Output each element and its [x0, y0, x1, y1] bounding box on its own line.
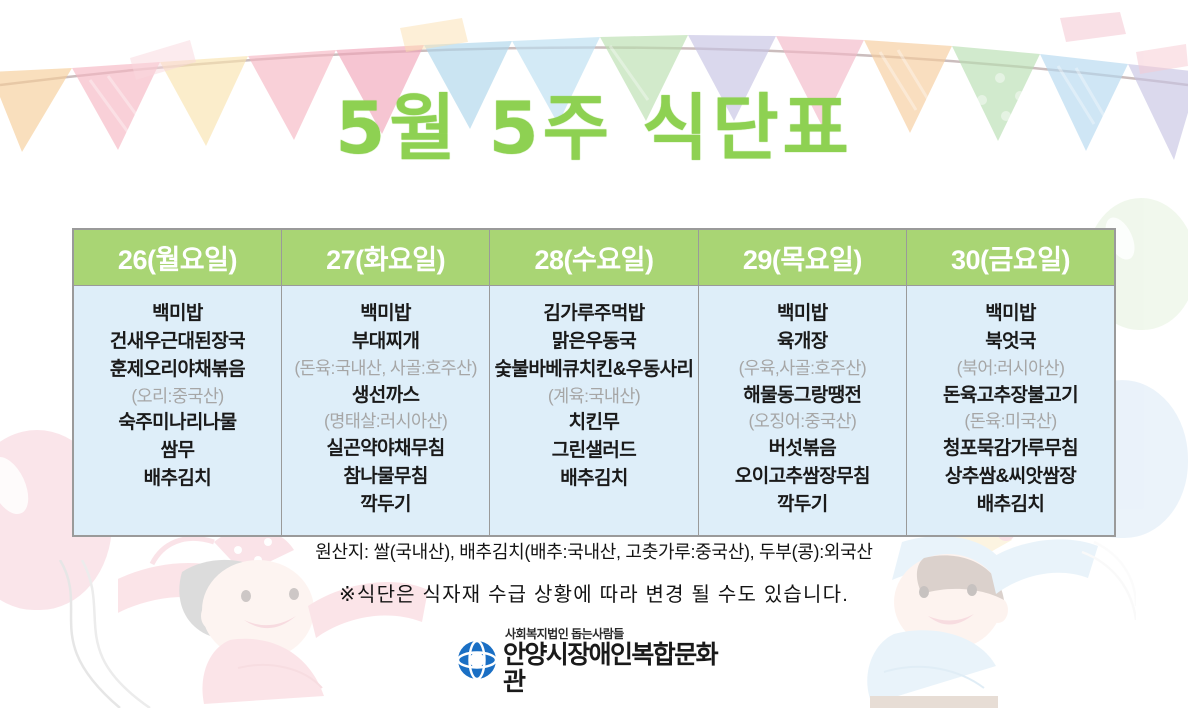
menu-item: 버섯볶음	[703, 435, 902, 463]
column-header-wednesday: 28(수요일)	[490, 229, 698, 286]
menu-item: 깍두기	[703, 491, 902, 519]
menu-item: 부대찌개	[286, 328, 485, 356]
globe-icon	[457, 640, 497, 680]
table-header-row: 26(월요일) 27(화요일) 28(수요일) 29(목요일) 30(금요일)	[73, 229, 1115, 286]
logo-name: 안양시장애인복합문화관	[503, 642, 735, 695]
logo-subtitle: 사회복지법인 돕는사람들	[505, 625, 735, 642]
logo-text-block: 사회복지법인 돕는사람들 안양시장애인복합문화관	[503, 625, 735, 695]
column-header-tuesday: 27(화요일)	[281, 229, 489, 286]
menu-item: 북엇국	[911, 328, 1110, 356]
menu-item: 상추쌈&씨앗쌈장	[911, 463, 1110, 491]
menu-item: 오이고추쌈장무침	[703, 463, 902, 491]
menu-item: 참나물무침	[286, 463, 485, 491]
origin-label: (우육,사골:호주산)	[703, 356, 902, 382]
menu-item: 해물동그랑땡전	[703, 382, 902, 410]
origin-label: (돈육:미국산)	[911, 409, 1110, 435]
change-note: ※식단은 식자재 수급 상황에 따라 변경 될 수도 있습니다.	[0, 578, 1188, 607]
origin-label: (돈육:국내산, 사골:호주산)	[286, 356, 485, 382]
menu-item: 맑은우동국	[494, 328, 693, 356]
column-header-friday: 30(금요일)	[907, 229, 1115, 286]
menu-item: 건새우근대된장국	[78, 328, 277, 356]
menu-cell-wednesday: 김가루주먹밥맑은우동국숯불바베큐치킨&우동사리(계육:국내산)치킨무그린샐러드배…	[490, 286, 698, 536]
footer-notes: 원산지: 쌀(국내산), 배추김치(배추:국내산, 고춧가루:중국산), 두부(…	[0, 538, 1188, 607]
menu-cell-monday: 백미밥건새우근대된장국훈제오리야채볶음(오리:중국산)숙주미나리나물쌈무배추김치	[73, 286, 281, 536]
menu-item: 배추김치	[78, 465, 277, 493]
menu-item: 쌈무	[78, 437, 277, 465]
menu-item: 실곤약야채무침	[286, 435, 485, 463]
table-menu-row: 백미밥건새우근대된장국훈제오리야채볶음(오리:중국산)숙주미나리나물쌈무배추김치…	[73, 286, 1115, 536]
menu-item: 육개장	[703, 328, 902, 356]
column-header-thursday: 29(목요일)	[698, 229, 906, 286]
menu-item: 숯불바베큐치킨&우동사리	[494, 356, 693, 384]
weekly-menu-table: 26(월요일) 27(화요일) 28(수요일) 29(목요일) 30(금요일) …	[72, 228, 1116, 537]
menu-item: 청포묵감가루무침	[911, 435, 1110, 463]
menu-item: 배추김치	[494, 465, 693, 493]
menu-item: 훈제오리야채볶음	[78, 356, 277, 384]
origin-note: 원산지: 쌀(국내산), 배추김치(배추:국내산, 고춧가루:중국산), 두부(…	[0, 538, 1188, 564]
origin-label: (명태살:러시아산)	[286, 409, 485, 435]
menu-item: 치킨무	[494, 409, 693, 437]
origin-label: (오징어:중국산)	[703, 409, 902, 435]
menu-item: 깍두기	[286, 491, 485, 519]
menu-item: 배추김치	[911, 491, 1110, 519]
origin-label: (북어:러시아산)	[911, 356, 1110, 382]
menu-cell-friday: 백미밥북엇국(북어:러시아산)돈육고추장불고기(돈육:미국산)청포묵감가루무침상…	[907, 286, 1115, 536]
menu-item: 백미밥	[703, 300, 902, 328]
origin-label: (계육:국내산)	[494, 384, 693, 410]
column-header-monday: 26(월요일)	[73, 229, 281, 286]
menu-item: 숙주미나리나물	[78, 409, 277, 437]
menu-item: 생선까스	[286, 382, 485, 410]
menu-cell-thursday: 백미밥육개장(우육,사골:호주산)해물동그랑땡전(오징어:중국산)버섯볶음오이고…	[698, 286, 906, 536]
organization-logo: 사회복지법인 돕는사람들 안양시장애인복합문화관	[453, 634, 735, 686]
meal-plan-poster: 5월 5주 식단표 26(월요일) 27(화요일) 28(수요일) 29(목요일…	[0, 0, 1188, 708]
menu-item: 그린샐러드	[494, 437, 693, 465]
menu-item: 백미밥	[911, 300, 1110, 328]
page-title: 5월 5주 식단표	[0, 92, 1188, 164]
menu-cell-tuesday: 백미밥부대찌개(돈육:국내산, 사골:호주산)생선까스(명태살:러시아산)실곤약…	[281, 286, 489, 536]
menu-item: 김가루주먹밥	[494, 300, 693, 328]
menu-item: 돈육고추장불고기	[911, 382, 1110, 410]
menu-item: 백미밥	[286, 300, 485, 328]
origin-label: (오리:중국산)	[78, 384, 277, 410]
menu-item: 백미밥	[78, 300, 277, 328]
